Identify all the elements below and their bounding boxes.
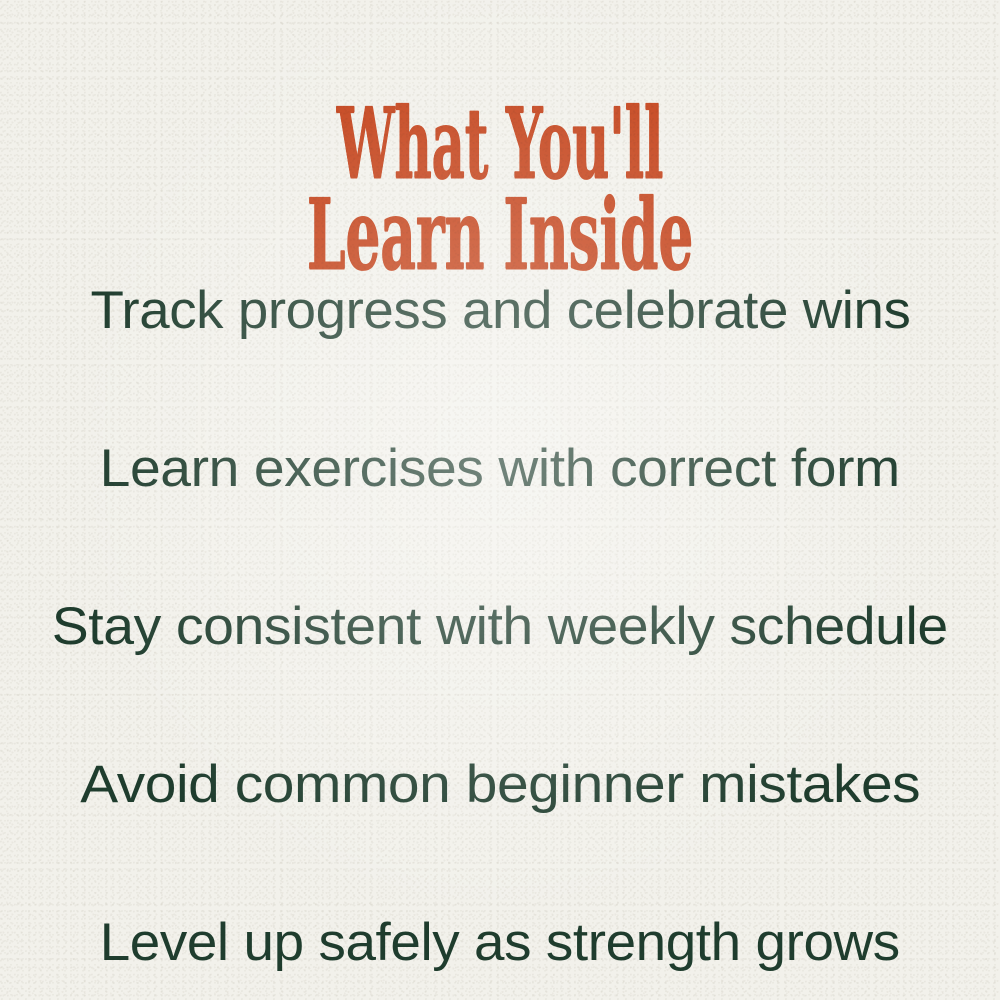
- benefit-text-3: Stay consistent with weekly schedule: [52, 548, 948, 706]
- poster-canvas: What You'll Learn Inside Track progress …: [0, 0, 1000, 1000]
- list-item: Track progress and celebrate wins: [0, 232, 1000, 390]
- list-item: Learn exercises with correct form: [0, 390, 1000, 548]
- list-item: Avoid common beginner mistakes: [0, 706, 1000, 864]
- list-item: Stay consistent with weekly schedule: [0, 548, 1000, 706]
- benefit-text-5: Level up safely as strength grows: [100, 864, 900, 1000]
- list-item: Level up safely as strength grows: [0, 864, 1000, 1000]
- benefit-text-2: Learn exercises with correct form: [100, 390, 900, 548]
- benefit-text-4: Avoid common beginner mistakes: [80, 706, 920, 864]
- benefits-list: Track progress and celebrate wins Learn …: [0, 232, 1000, 1000]
- benefit-text-1: Track progress and celebrate wins: [90, 232, 910, 390]
